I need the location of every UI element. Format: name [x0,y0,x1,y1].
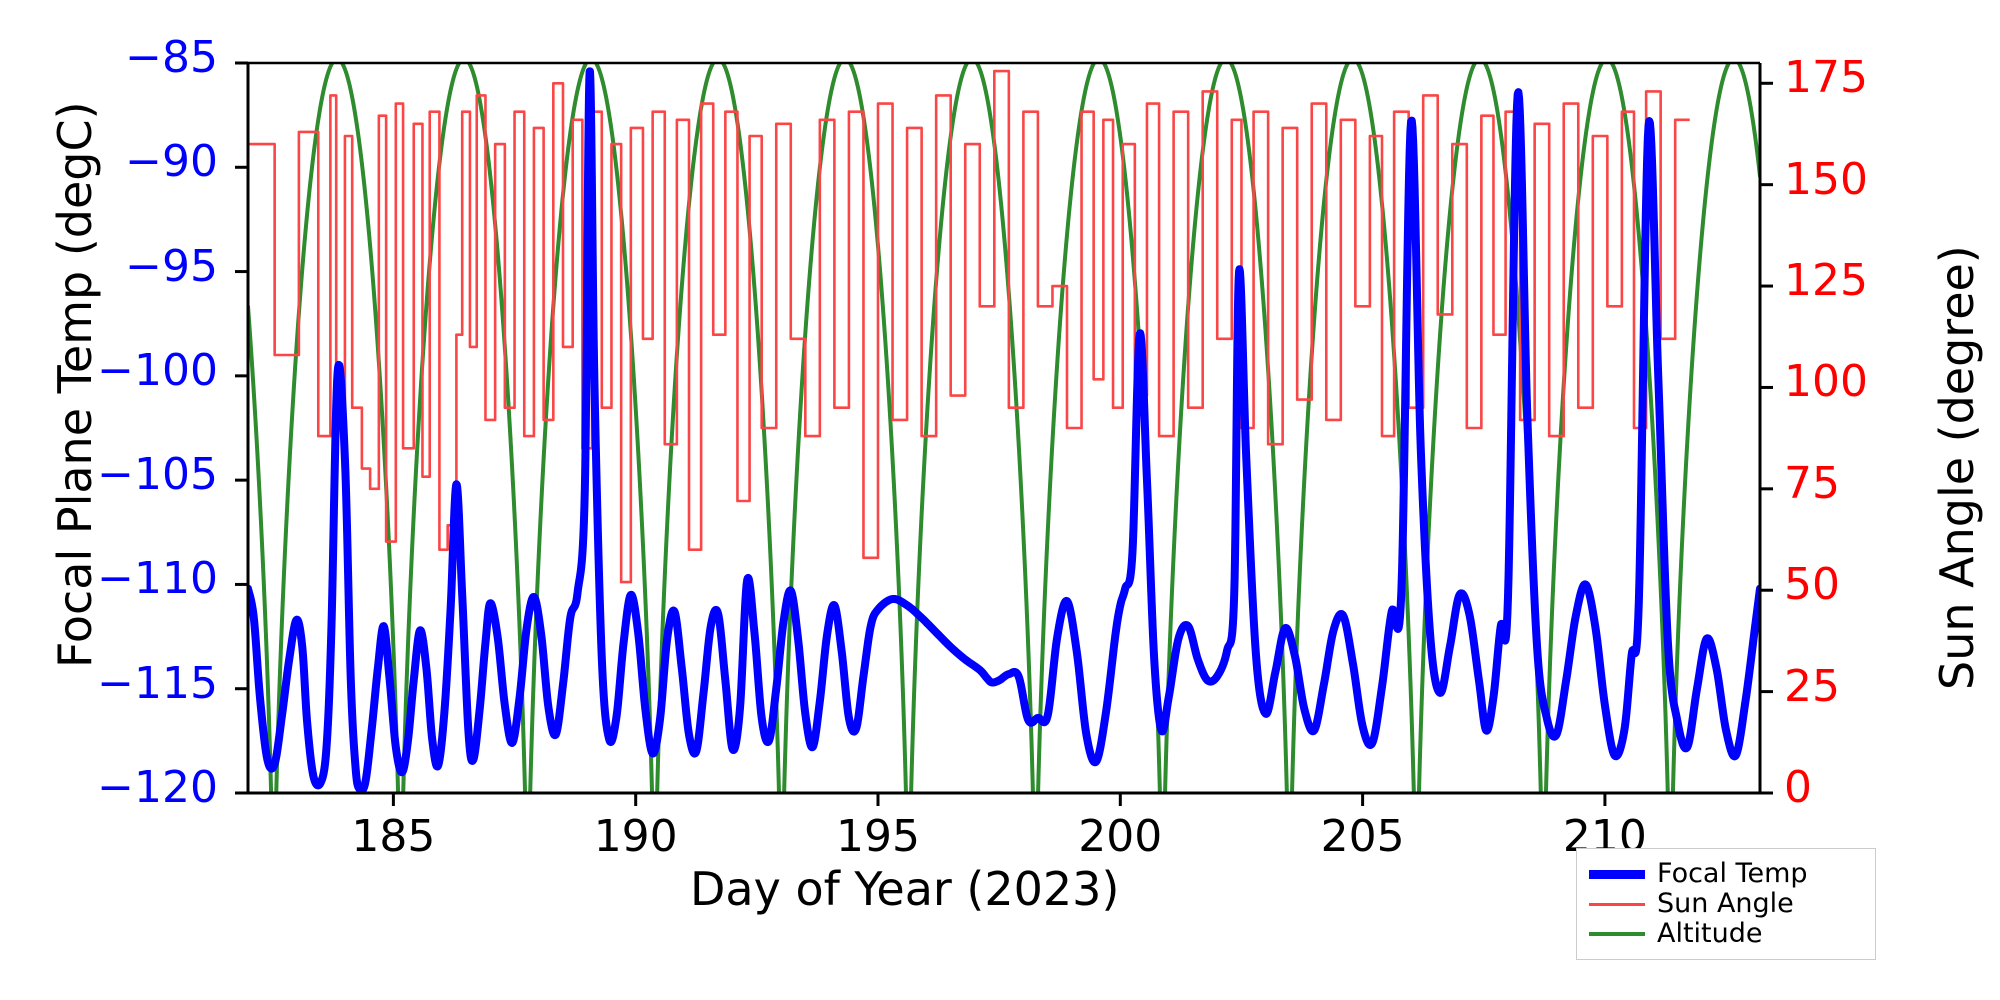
legend-swatch-sun-angle [1589,903,1645,906]
legend-item[interactable]: Altitude [1589,919,1861,949]
legend-item[interactable]: Sun Angle [1589,889,1861,919]
chart-legend[interactable]: Focal TempSun AngleAltitude [1576,848,1876,960]
legend-swatch-altitude [1589,932,1645,936]
series-sun-angle [248,71,1690,582]
series-focal-temp [248,71,1760,790]
legend-label: Focal Temp [1657,859,1808,889]
legend-label: Altitude [1657,919,1763,949]
legend-item[interactable]: Focal Temp [1589,859,1861,889]
figure-canvas: Focal Plane Temp (degC) Sun Angle (degre… [0,0,2000,1000]
legend-swatch-focal-temp [1589,870,1645,879]
legend-label: Sun Angle [1657,889,1794,919]
